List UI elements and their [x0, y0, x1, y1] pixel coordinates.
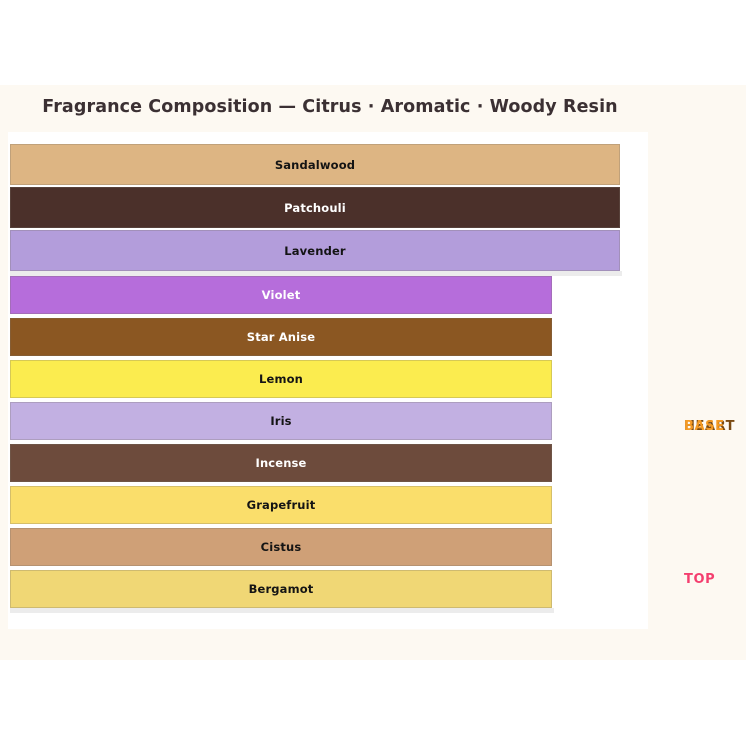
- bar-label: Iris: [270, 414, 291, 428]
- bar-label: Star Anise: [247, 330, 315, 344]
- stage-label-top: TOP: [684, 572, 715, 587]
- bar-patchouli[interactable]: Patchouli: [10, 187, 620, 228]
- bar-star-anise[interactable]: Star Anise: [10, 318, 552, 356]
- bar-lemon[interactable]: Lemon: [10, 360, 552, 398]
- bar-label: Incense: [256, 456, 307, 470]
- bar-label: Cistus: [261, 540, 302, 554]
- plot-panel: SandalwoodPatchouliLavenderVioletStar An…: [8, 132, 648, 629]
- bar-grapefruit[interactable]: Grapefruit: [10, 486, 552, 524]
- bar-sandalwood[interactable]: Sandalwood: [10, 144, 620, 185]
- bar-shadow-strip: [10, 608, 554, 613]
- bar-label: Sandalwood: [275, 158, 355, 172]
- bar-label: Violet: [262, 288, 301, 302]
- bar-label: Lavender: [284, 244, 345, 258]
- chart-title: Fragrance Composition — Citrus · Aromati…: [0, 97, 660, 117]
- bar-cistus[interactable]: Cistus: [10, 528, 552, 566]
- bar-bergamot[interactable]: Bergamot: [10, 570, 552, 608]
- bar-lavender[interactable]: Lavender: [10, 230, 620, 271]
- bar-incense[interactable]: Incense: [10, 444, 552, 482]
- bars-layer: SandalwoodPatchouliLavenderVioletStar An…: [8, 132, 648, 629]
- figure-canvas: Fragrance Composition — Citrus · Aromati…: [0, 85, 746, 660]
- bar-label: Bergamot: [249, 582, 314, 596]
- bar-label: Patchouli: [284, 201, 346, 215]
- bar-label: Lemon: [259, 372, 303, 386]
- bar-iris[interactable]: Iris: [10, 402, 552, 440]
- bar-violet[interactable]: Violet: [10, 276, 552, 314]
- bar-label: Grapefruit: [247, 498, 316, 512]
- stage-label-base: BASE: [684, 419, 725, 434]
